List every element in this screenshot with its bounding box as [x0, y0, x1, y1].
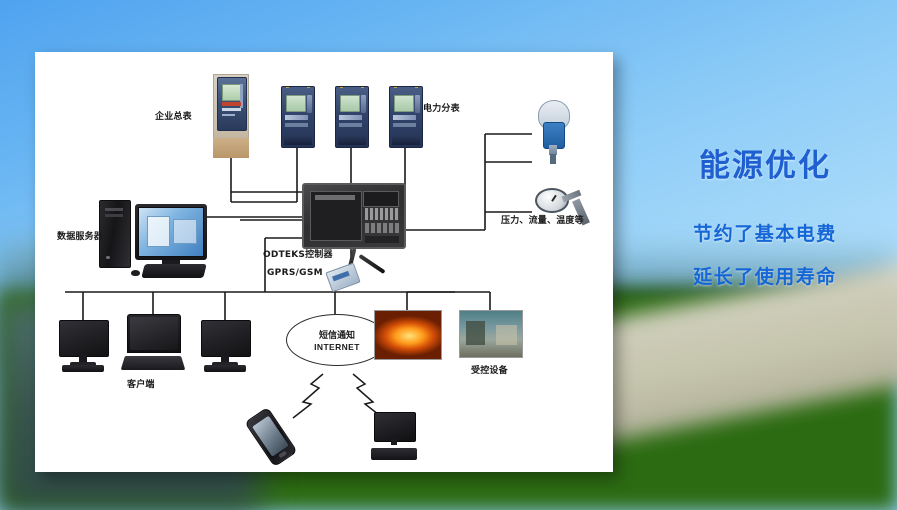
enterprise-meter[interactable] — [213, 74, 249, 158]
submeter-terminal — [338, 135, 366, 145]
monitor-bezel — [135, 204, 207, 260]
submeter-band2 — [285, 123, 308, 127]
submeter-band — [285, 115, 308, 120]
server-tower[interactable] — [99, 200, 131, 268]
marketing-copy: 能源优化 节约了基本电费 延长了使用寿命 — [636, 140, 894, 289]
monitor-window-left — [147, 216, 171, 248]
power-submeter-3[interactable] — [389, 86, 421, 146]
meter-lcd — [222, 84, 241, 102]
submeter-clip-right — [361, 86, 364, 88]
power-submeter-1[interactable] — [281, 86, 313, 146]
remote-monitor-neck — [391, 439, 397, 445]
diagram-panel: 企业总表 — [35, 52, 613, 472]
sms-notification-text: 短信通知 — [319, 328, 355, 341]
submeter-keys — [361, 95, 366, 113]
submeter-clip-left — [286, 86, 289, 88]
power-submeters-label: 电力分表 — [423, 104, 460, 115]
meter-base — [213, 138, 249, 158]
submeter-keys — [307, 95, 312, 113]
power-submeter-2[interactable] — [335, 86, 367, 146]
submeter-band — [393, 115, 416, 120]
submeter-lcd — [394, 95, 414, 113]
benefit-line-2: 延长了使用寿命 — [636, 262, 894, 289]
laptop-base — [121, 356, 185, 370]
submeter-lcd — [340, 95, 360, 113]
pressure-gauge[interactable] — [535, 184, 583, 218]
client-label: 客户端 — [127, 380, 155, 391]
controlled-equipment-label: 受控设备 — [471, 366, 508, 377]
controller-top-panel — [363, 191, 399, 207]
laptop-screen — [130, 317, 179, 350]
submeter-band2 — [393, 123, 416, 127]
tower-drive-bay — [105, 208, 123, 211]
controller-terminal-strip — [365, 208, 399, 220]
remote-monitor-screen — [374, 412, 416, 442]
odteks-controller[interactable] — [302, 183, 406, 249]
sensors-label: 压力、流量、温度等 — [501, 216, 584, 227]
tower-drive-bay-2 — [105, 214, 123, 217]
submeter-body — [281, 86, 315, 148]
controller-label: ODTEKS控制器 — [263, 250, 333, 261]
submeter-keys — [415, 95, 420, 113]
submeter-band2 — [339, 123, 362, 127]
meter-device — [217, 77, 246, 131]
client-pc-left[interactable] — [59, 320, 107, 372]
controller-io-strip — [365, 223, 399, 233]
submeter-band — [339, 115, 362, 120]
slide-canvas: 企业总表 — [0, 0, 897, 510]
furnace-photo[interactable] — [374, 310, 442, 360]
enterprise-meter-label: 企业总表 — [155, 112, 192, 123]
benefit-line-1: 节约了基本电费 — [636, 219, 894, 246]
modem-unit — [325, 262, 360, 292]
client-neck — [79, 354, 87, 361]
client-display — [201, 320, 251, 357]
submeter-terminal — [392, 135, 420, 145]
client-base — [62, 365, 104, 372]
submeter-terminal — [284, 135, 312, 145]
client-laptop[interactable] — [123, 314, 183, 370]
plant-photo[interactable] — [459, 310, 523, 358]
submeter-clip-right — [307, 86, 310, 88]
laptop-lid — [127, 314, 182, 353]
gprs-modem[interactable] — [328, 257, 370, 291]
client-neck — [221, 354, 229, 361]
server-monitor[interactable] — [135, 204, 207, 260]
controller-display — [310, 191, 362, 241]
monitor-window-right — [173, 219, 197, 244]
pressure-transmitter[interactable] — [533, 100, 573, 164]
submeter-clip-left — [394, 86, 397, 88]
controller-display-title — [315, 195, 355, 200]
server-keyboard[interactable] — [141, 264, 206, 278]
headline: 能源优化 — [636, 140, 894, 185]
data-server-label: 数据服务器 — [57, 232, 103, 243]
client-base — [204, 365, 246, 372]
monitor-screen — [138, 207, 204, 257]
submeter-clip-left — [340, 86, 343, 88]
meter-light-band — [222, 108, 241, 111]
tower-power-button[interactable] — [106, 256, 110, 259]
submeter-body — [335, 86, 369, 148]
internet-text: INTERNET — [314, 342, 360, 352]
controller-base-strip — [365, 236, 399, 243]
remote-monitor-base — [371, 448, 417, 460]
modem-indicator — [332, 271, 350, 282]
server-mouse[interactable] — [131, 270, 140, 276]
transmitter-tip — [550, 154, 556, 164]
gprs-gsm-label: GPRS/GSM — [267, 268, 323, 279]
client-pc-right[interactable] — [201, 320, 249, 372]
submeter-clip-right — [415, 86, 418, 88]
submeter-body — [389, 86, 423, 148]
client-display — [59, 320, 109, 357]
meter-red-band — [222, 102, 241, 106]
submeter-lcd — [286, 95, 306, 113]
meter-gray-band — [222, 114, 236, 117]
remote-monitor[interactable] — [371, 412, 417, 460]
internet-cloud[interactable]: 短信通知 INTERNET — [286, 314, 388, 366]
